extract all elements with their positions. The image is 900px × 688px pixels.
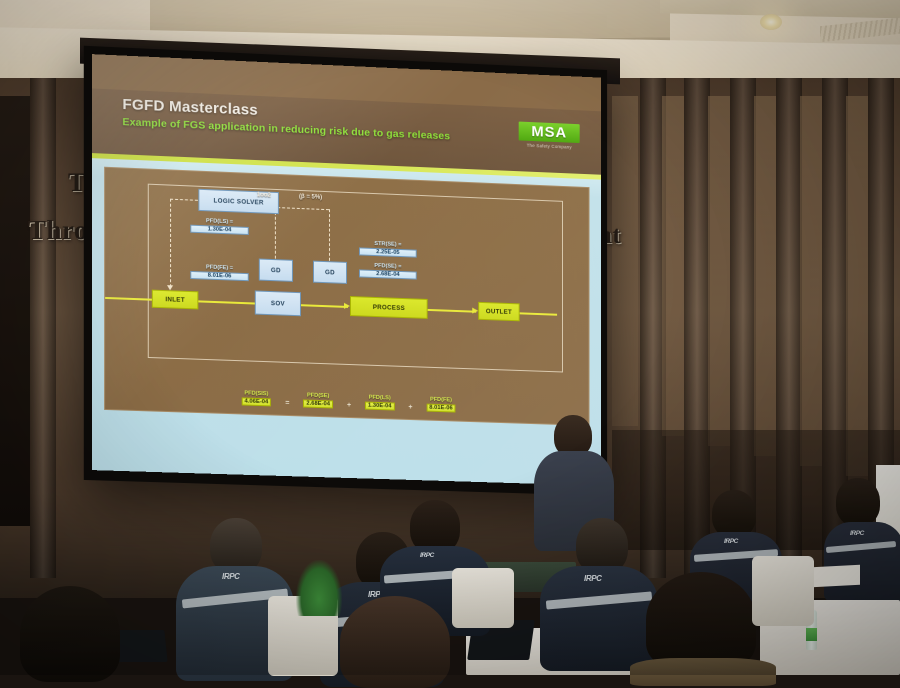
- equation-term-pfd-se: PFD(SE) 2.68E-04: [303, 392, 333, 408]
- uniform-logo-irpc: IRPC: [584, 574, 602, 583]
- dash-left-down-to-sov: [170, 199, 171, 288]
- foreground-person: [10, 586, 130, 678]
- wall-panel: [662, 96, 684, 436]
- node-sov-label: SOV: [271, 300, 285, 308]
- equation-term-pfd-fe-label: PFD(FE): [426, 397, 455, 404]
- msa-logo: MSA The Safety Company: [519, 122, 580, 150]
- wall-sign-fragment-2: Thro: [28, 215, 88, 246]
- diagram-canvas: INLET SOV PROCESS OUTLET LOGIC SOLVER: [104, 167, 589, 426]
- equation-term-pfd-ls-label: PFD(LS): [365, 395, 394, 402]
- node-inlet-label: INLET: [165, 296, 185, 304]
- foreground-head: [340, 596, 450, 688]
- node-outlet[interactable]: OUTLET: [478, 302, 519, 321]
- foreground-torso: [630, 658, 776, 686]
- node-process[interactable]: PROCESS: [350, 296, 428, 319]
- node-gd-1-label: GD: [271, 266, 281, 273]
- equation-term-pfd-sis-value: 4.06E-04: [242, 397, 272, 406]
- node-gd-2-label: GD: [325, 269, 335, 276]
- annotation-beta: (β = 5%): [299, 194, 322, 201]
- downlight: [760, 14, 782, 30]
- node-gd-2[interactable]: GD: [313, 261, 347, 284]
- projection-screen: FGFD Masterclass Example of FGS applicat…: [92, 54, 601, 486]
- equation-term-pfd-se-label: PFD(SE): [303, 392, 333, 399]
- bottle-label: [806, 628, 817, 641]
- presentation-slide: FGFD Masterclass Example of FGS applicat…: [92, 54, 601, 486]
- annotation-voting: 1oo2: [257, 192, 271, 199]
- wall-panel: [754, 96, 776, 456]
- chair-back: [452, 568, 514, 628]
- uniform-logo-irpc: IRPC: [724, 538, 738, 545]
- equation-term-pfd-se-value: 2.68E-04: [303, 399, 333, 408]
- node-logic-solver-label: LOGIC SOLVER: [214, 197, 264, 206]
- wall-slat: [30, 78, 56, 578]
- conference-room-scene: T Thro nt FGFD Masterclass Example of FG…: [0, 0, 900, 675]
- node-inlet[interactable]: INLET: [152, 290, 199, 310]
- uniform-logo-irpc: IRPC: [420, 552, 434, 559]
- uniform-logo-irpc: IRPC: [222, 572, 240, 581]
- wall-recess-left: [0, 96, 30, 526]
- table-plant: [296, 560, 342, 616]
- audience-head: [712, 490, 756, 538]
- chair-back: [752, 556, 814, 626]
- equation-term-pfd-ls-value: 1.30E-04: [365, 402, 394, 411]
- node-outlet-label: OUTLET: [486, 308, 512, 316]
- node-sov[interactable]: SOV: [255, 290, 301, 316]
- equation-operator-plus-2: +: [408, 404, 412, 411]
- wall-panel: [708, 96, 730, 446]
- slide-body: INLET SOV PROCESS OUTLET LOGIC SOLVER: [92, 158, 601, 486]
- wall-panel: [846, 96, 868, 476]
- equation-row: PFD(SIS) 4.06E-04 = PFD(SE) 2.68E-04 + P…: [134, 387, 561, 416]
- wall-panel: [612, 96, 638, 426]
- value-pfd-fe: PFD(FE) = 8.01E-06: [190, 264, 248, 281]
- equation-term-pfd-fe-value: 8.01E-06: [426, 404, 455, 413]
- equation-operator-plus-1: +: [347, 402, 351, 409]
- foreground-head: [646, 572, 756, 668]
- equation-term-pfd-fe: PFD(FE) 8.01E-06: [426, 397, 455, 413]
- msa-logo-mark: MSA: [519, 122, 580, 144]
- audience-head: [836, 478, 880, 526]
- value-str-se: STR(SE) = 2.25E-05: [359, 240, 417, 257]
- equation-operator-equals: =: [285, 400, 289, 407]
- foreground-head: [20, 586, 120, 682]
- foreground-person: [330, 596, 458, 678]
- equation-term-pfd-sis: PFD(SIS) 4.06E-04: [242, 390, 272, 406]
- node-process-label: PROCESS: [373, 303, 405, 311]
- equation-term-pfd-sis-label: PFD(SIS): [242, 390, 272, 397]
- uniform-logo-irpc: IRPC: [850, 530, 864, 537]
- value-pfd-ls: PFD(LS) = 1.30E-04: [190, 218, 248, 235]
- value-pfd-se: PFD(SE) = 2.68E-04: [359, 262, 417, 279]
- name-card: [812, 565, 860, 588]
- wall-panel: [800, 96, 822, 466]
- node-gd-1[interactable]: GD: [259, 258, 293, 281]
- equation-term-pfd-ls: PFD(LS) 1.30E-04: [365, 395, 394, 411]
